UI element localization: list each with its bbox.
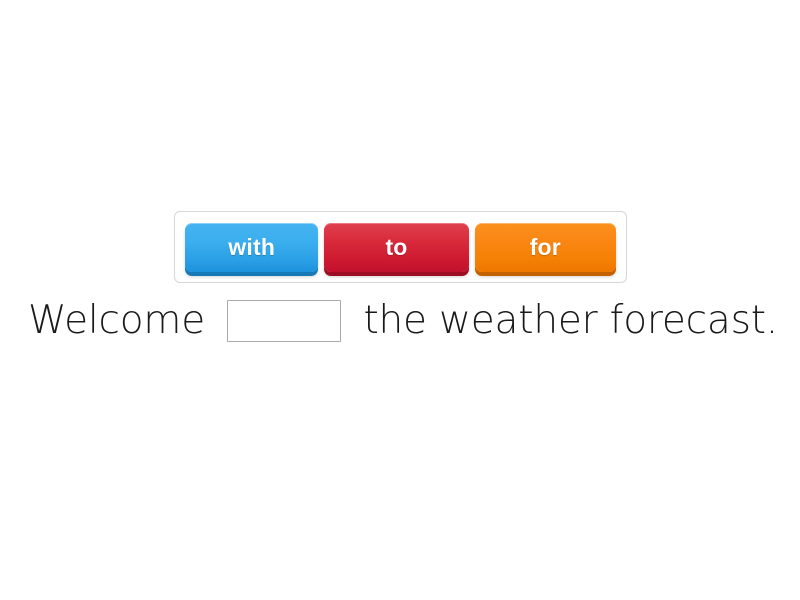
sentence-blank-slot[interactable] [227, 300, 341, 342]
word-choice-with[interactable]: with [185, 223, 318, 272]
word-choice-for[interactable]: for [475, 223, 616, 272]
sentence-suffix: the weather forecast. [363, 298, 778, 343]
word-choice-to[interactable]: to [324, 223, 468, 272]
word-bank: with to for [174, 211, 627, 283]
sentence-line: Welcome the weather forecast. [28, 292, 778, 348]
sentence-prefix: Welcome [28, 298, 205, 343]
